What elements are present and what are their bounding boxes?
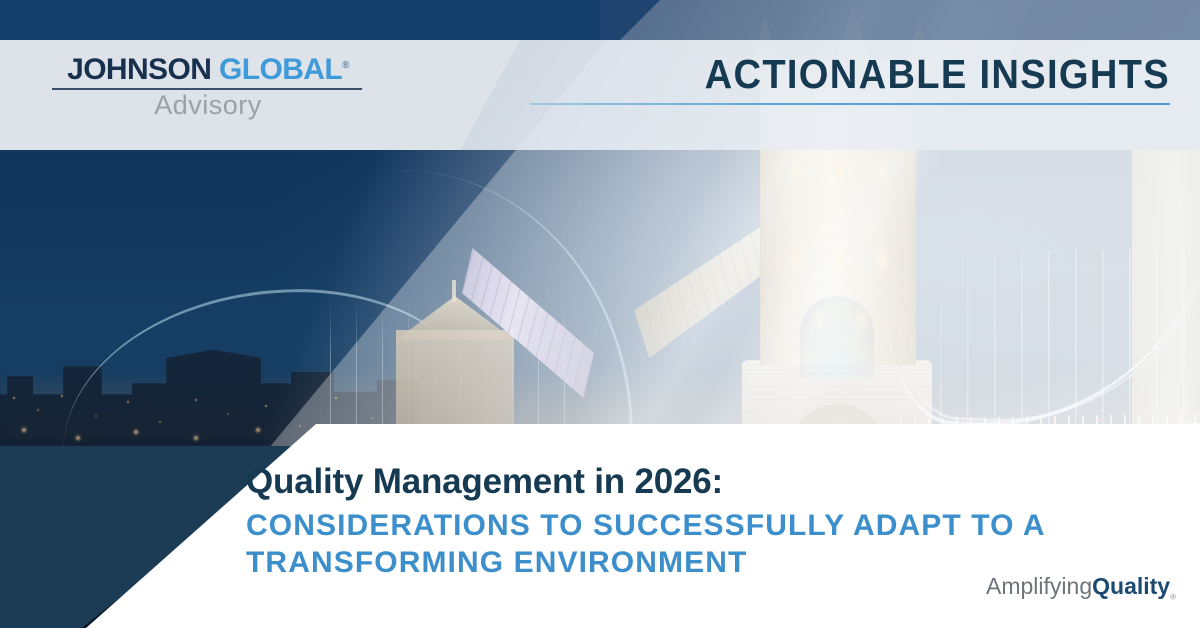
logo-word-johnson: JOHNSON [67, 53, 211, 86]
aq-word-quality: Quality [1092, 573, 1170, 599]
johnson-global-advisory-logo[interactable]: JOHNSON GLOBAL® Advisory [48, 54, 368, 120]
logo-word-global: GLOBAL [219, 53, 342, 86]
logo-word-space [211, 53, 219, 86]
page-subtitle: CONSIDERATIONS TO SUCCESSFULLY ADAPT TO … [246, 508, 1126, 581]
amplifying-quality-logo[interactable]: AmplifyingQuality® [986, 575, 1176, 602]
eyebrow-heading: ACTIONABLE INSIGHTS [575, 52, 1170, 98]
logo-registered-mark: ® [342, 60, 349, 71]
eyebrow-underline-rule [530, 103, 1170, 105]
logo-wordmark: JOHNSON GLOBAL® [48, 54, 368, 86]
title-block: Quality Management in 2026: CONSIDERATIO… [246, 462, 1186, 581]
page-title: Quality Management in 2026: [246, 462, 1186, 502]
logo-tagline: Advisory [48, 91, 368, 121]
insight-banner: JOHNSON GLOBAL® Advisory ACTIONABLE INSI… [0, 0, 1200, 628]
top-bar-tint [600, 0, 1200, 40]
eyebrow-heading-block: ACTIONABLE INSIGHTS [530, 52, 1170, 105]
aq-word-amplifying: Amplifying [986, 573, 1092, 599]
aq-registered-mark: ® [1170, 593, 1176, 602]
